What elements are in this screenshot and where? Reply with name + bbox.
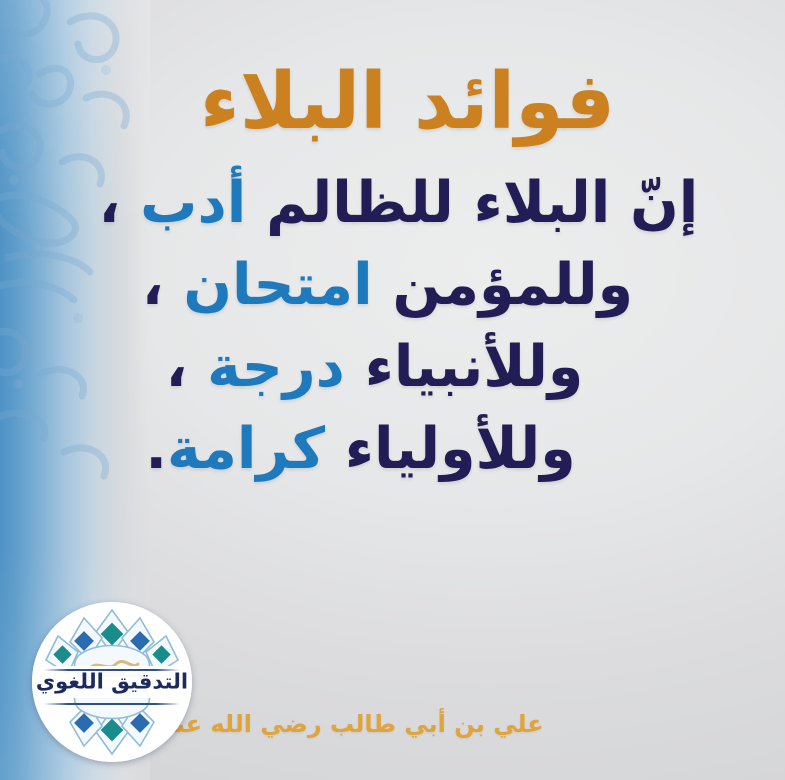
quote-line-4-tail: . <box>145 416 167 482</box>
quote-line-1-tail: ، <box>99 170 141 236</box>
quote-line-2-lead: وللمؤمن <box>373 252 633 318</box>
quote-line-2-highlight: امتحان <box>183 252 372 318</box>
quote-line-3-tail: ، <box>166 334 208 400</box>
quote-line-3: وللأنبياء درجة ، <box>34 326 763 408</box>
quote-line-1-lead: إنّ البلاء للظالم <box>246 170 698 236</box>
quote-line-2-tail: ، <box>142 252 184 318</box>
brand-logo[interactable]: التدقيق اللغوي <box>32 602 192 762</box>
quote-poster: فوائد البلاء إنّ البلاء للظالم أدب ، ولل… <box>0 0 785 780</box>
quote-line-2: وللمؤمن امتحان ، <box>34 244 763 326</box>
page-title: فوائد البلاء <box>0 62 785 144</box>
quote-line-4-lead: وللأولياء <box>325 416 576 482</box>
quote-line-1: إنّ البلاء للظالم أدب ، <box>34 162 763 244</box>
logo-text: التدقيق اللغوي <box>32 670 192 694</box>
quote-line-3-highlight: درجة <box>207 334 345 400</box>
quote-body: إنّ البلاء للظالم أدب ، وللمؤمن امتحان ،… <box>0 162 785 490</box>
quote-line-4: وللأولياء كرامة. <box>34 408 763 490</box>
quote-line-3-lead: وللأنبياء <box>345 334 583 400</box>
quote-line-4-highlight: كرامة <box>167 416 325 482</box>
logo-divider-bottom <box>44 703 180 705</box>
quote-line-1-highlight: أدب <box>140 170 246 236</box>
